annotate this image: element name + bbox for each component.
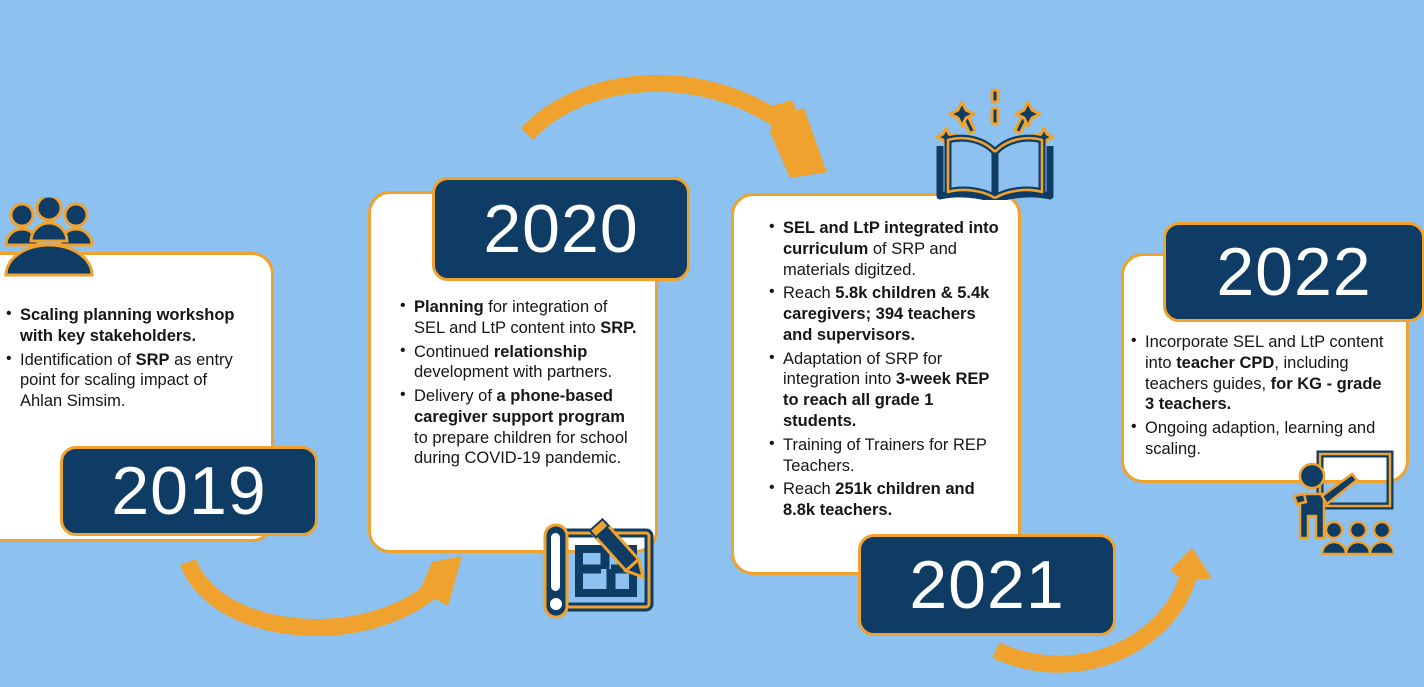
year-badge-2022[interactable]: 2022 xyxy=(1163,222,1424,322)
open-book-sparkle-icon xyxy=(932,88,1058,200)
infographic-canvas: .arw { fill: none; stroke: #f0a22e; stro… xyxy=(0,0,1424,687)
year-badge-2020[interactable]: 2020 xyxy=(432,177,690,281)
arrow-2019-to-2020-icon xyxy=(188,556,462,627)
bullet-item: SEL and LtP integrated into curriculum o… xyxy=(768,218,1000,280)
bullet-item: Adaptation of SRP for integration into 3… xyxy=(768,349,1000,432)
bullet-item: Training of Trainers for REP Teachers. xyxy=(768,435,1000,477)
year-badge-2021[interactable]: 2021 xyxy=(858,534,1116,636)
bullet-item: Reach 5.8k children & 5.4k caregivers; 3… xyxy=(768,283,1000,345)
bullet-item: Ongoing adaption, learning and scaling. xyxy=(1130,418,1386,460)
bullet-item: Continued relationship development with … xyxy=(399,342,637,384)
milestone-card-2021[interactable]: SEL and LtP integrated into curriculum o… xyxy=(731,193,1021,575)
bullet-item: Incorporate SEL and LtP content into tea… xyxy=(1130,332,1386,415)
milestone-bullets-2021: SEL and LtP integrated into curriculum o… xyxy=(734,196,1018,521)
arrow-2020-to-2021-icon xyxy=(527,83,828,178)
bullet-item: Scaling planning workshop with key stake… xyxy=(5,305,249,347)
milestone-bullets-2019: Scaling planning workshop with key stake… xyxy=(0,255,271,412)
bullet-item: Identification of SRP as entry point for… xyxy=(5,350,249,412)
bullet-item: Planning for integration of SEL and LtP … xyxy=(399,297,637,339)
bullet-item: Delivery of a phone-based caregiver supp… xyxy=(399,386,637,469)
year-badge-2019[interactable]: 2019 xyxy=(60,446,318,536)
bullet-item: Reach 251k children and 8.8k teachers. xyxy=(768,479,1000,521)
